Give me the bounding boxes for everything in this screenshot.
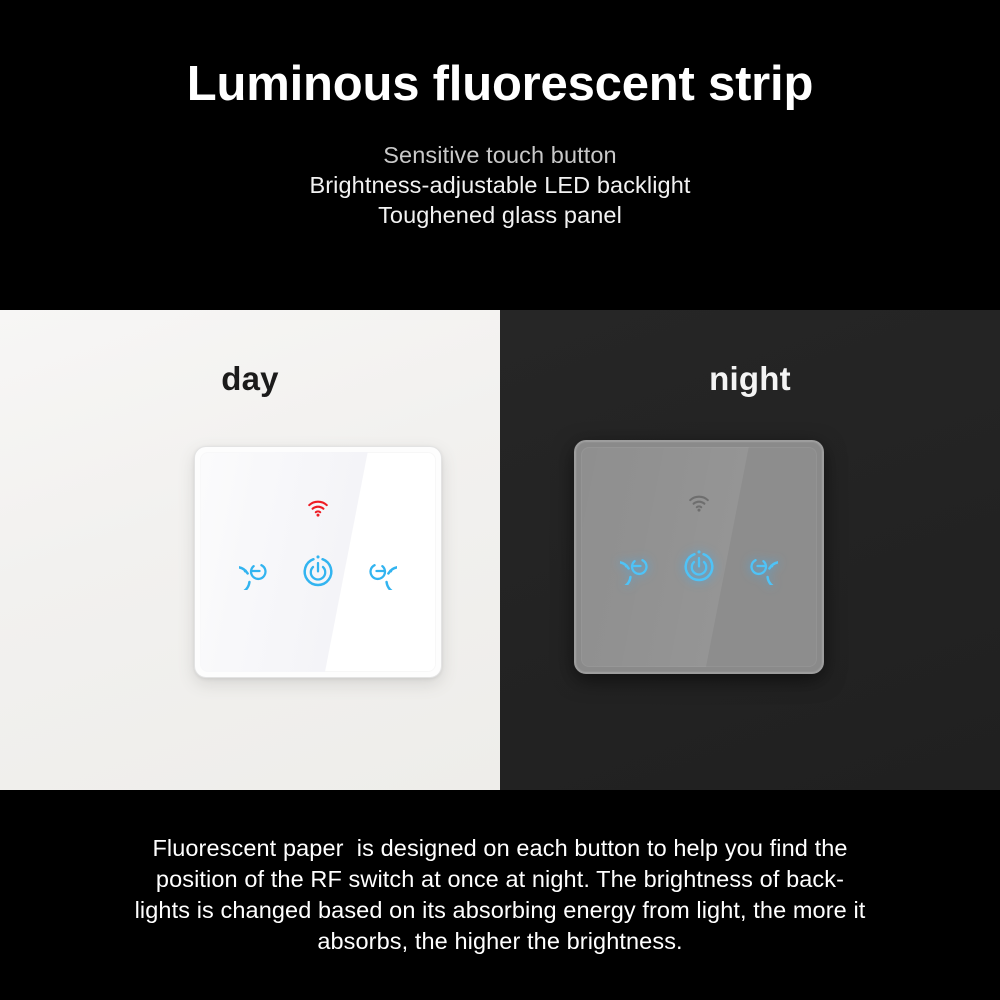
night-label: night: [500, 360, 1000, 398]
touch-button-right-day[interactable]: [359, 552, 397, 590]
feature-item-3: Toughened glass panel: [0, 200, 1000, 230]
touch-button-right-night[interactable]: [740, 547, 778, 585]
touch-button-center-night[interactable]: [680, 547, 718, 585]
touch-button-left-day[interactable]: [239, 552, 277, 590]
touch-button-row-day: [200, 552, 436, 590]
feature-list: Sensitive touch button Brightness-adjust…: [0, 140, 1000, 230]
wifi-icon: [307, 500, 329, 517]
wifi-icon: [688, 495, 710, 512]
header-section: Luminous fluorescent strip Sensitive tou…: [0, 0, 1000, 310]
day-pane: day: [0, 310, 500, 790]
glass-panel-day: [200, 452, 436, 672]
page-title: Luminous fluorescent strip: [0, 0, 1000, 114]
wall-switch-night: [574, 440, 824, 674]
comparison-showcase: day: [0, 310, 1000, 790]
touch-button-left-night[interactable]: [620, 547, 658, 585]
footer-section: Fluorescent paper is designed on each bu…: [0, 790, 1000, 1000]
product-feature-banner: Luminous fluorescent strip Sensitive tou…: [0, 0, 1000, 1000]
night-pane: night: [500, 310, 1000, 790]
description-text: Fluorescent paper is designed on each bu…: [130, 833, 870, 957]
glass-panel-night: [581, 447, 817, 667]
day-label: day: [0, 360, 500, 398]
touch-button-center-day[interactable]: [299, 552, 337, 590]
feature-item-1: Sensitive touch button: [0, 140, 1000, 170]
touch-button-row-night: [581, 547, 817, 585]
wall-switch-day: [194, 446, 442, 678]
feature-item-2: Brightness-adjustable LED backlight: [0, 170, 1000, 200]
